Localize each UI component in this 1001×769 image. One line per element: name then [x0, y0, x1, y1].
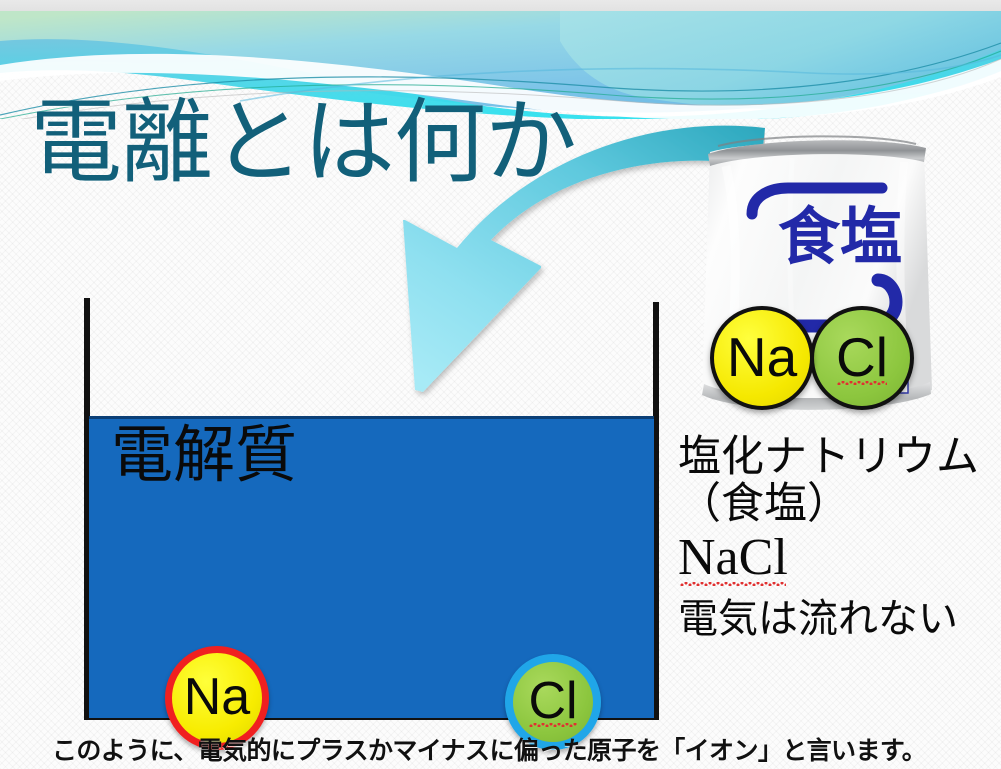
ion-na-symbol: Na [184, 671, 250, 725]
electrolyte-label: 電解質 [111, 425, 297, 487]
compound-formula-text: NaCl [678, 532, 788, 588]
compound-name: 塩化ナトリウム [678, 436, 1001, 479]
salt-bag-chip-cl-symbol: Cl [836, 330, 888, 387]
compound-alias: （食塩） [678, 483, 1001, 526]
beaker-liquid: 電解質 Na プラス Cl マイナス [89, 416, 654, 718]
compound-description-block: 塩化ナトリウム （食塩） NaCl 電気は流れない [678, 436, 1001, 639]
beaker-container: 電解質 Na プラス Cl マイナス [84, 298, 659, 720]
slide-bottom-caption: このように、電気的にプラスかマイナスに偏った原子を「イオン」と言います。 [52, 731, 926, 767]
compound-formula: NaCl [678, 532, 788, 591]
salt-bag-chip-na: Na [710, 306, 814, 410]
ion-cl-symbol: Cl [528, 675, 577, 729]
salt-bag-chip-cl: Cl [810, 306, 914, 410]
presentation-slide: 電離とは何か 電解質 [0, 0, 1001, 769]
salt-bag-chip-na-symbol: Na [727, 330, 797, 387]
salt-package-label: 食塩 [778, 203, 902, 272]
conductivity-note: 電気は流れない [678, 599, 1001, 639]
slide-title: 電離とは何か [30, 96, 576, 192]
